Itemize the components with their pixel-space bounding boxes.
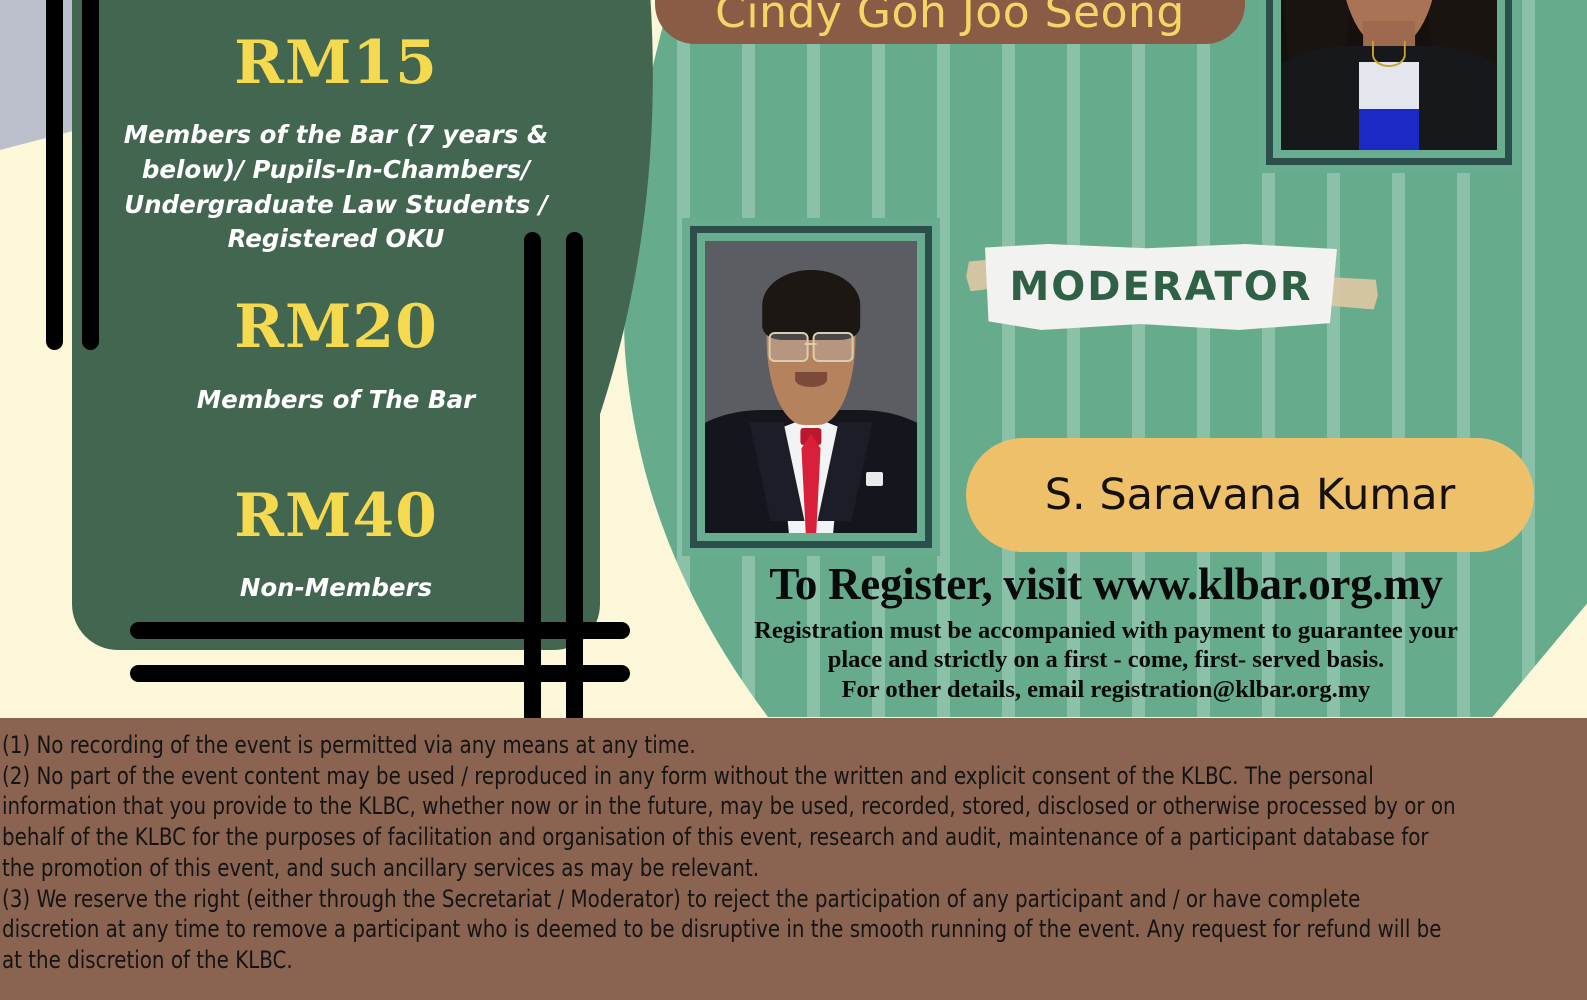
decor-bar-horizontal-1: [130, 622, 630, 639]
price-description-2: Members of The Bar: [92, 383, 580, 418]
registration-line-1: Registration must be accompanied with pa…: [676, 616, 1536, 646]
price-amount-2: RM20: [72, 292, 600, 362]
disclaimer-item-2: (2) No part of the event content may be …: [2, 761, 1458, 884]
price-description-3: Non-Members: [92, 571, 580, 606]
registration-block: To Register, visit www.klbar.org.my Regi…: [676, 560, 1536, 705]
price-amount-1: RM15: [72, 28, 600, 98]
moderator-name-pill: S. Saravana Kumar: [966, 438, 1534, 552]
poster-canvas: RM15 Members of the Bar (7 years & below…: [0, 0, 1587, 1000]
registration-line-2: place and strictly on a first - come, fi…: [676, 645, 1536, 675]
speaker-portrait-frame: [1258, 0, 1520, 173]
disclaimer-item-1: (1) No recording of the event is permitt…: [2, 730, 1458, 761]
speaker-name-label: Cindy Goh Joo Seong: [715, 0, 1185, 44]
disclaimer-footer: (1) No recording of the event is permitt…: [0, 718, 1587, 1000]
speaker-name-pill: Cindy Goh Joo Seong: [655, 0, 1245, 44]
moderator-name-label: S. Saravana Kumar: [1045, 470, 1456, 520]
portrait-inner-border: [1266, 0, 1512, 165]
registration-line-3: For other details, email registration@kl…: [676, 675, 1536, 705]
portrait-photo-woman: [1281, 0, 1497, 150]
price-amount-3: RM40: [72, 481, 600, 551]
moderator-portrait-inner-border: [690, 226, 932, 548]
registration-headline: To Register, visit www.klbar.org.my: [676, 560, 1536, 610]
price-description-1: Members of the Bar (7 years & below)/ Pu…: [92, 118, 580, 257]
moderator-label: MODERATOR: [985, 244, 1337, 330]
decor-bar-horizontal-2: [130, 665, 630, 682]
decor-bar-vertical-topleft-1: [46, 0, 63, 350]
disclaimer-item-3: (3) We reserve the right (either through…: [2, 884, 1458, 976]
portrait-photo-man: [705, 241, 917, 533]
moderator-portrait-frame: [682, 218, 940, 556]
